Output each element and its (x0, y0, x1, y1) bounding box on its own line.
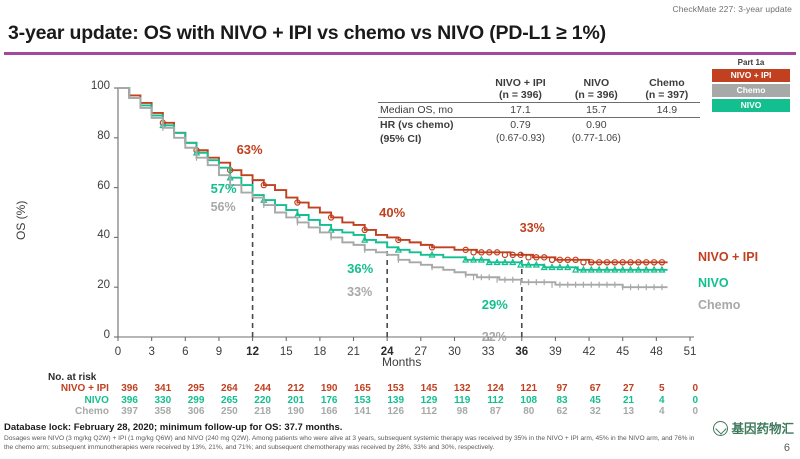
source-citation: CheckMate 227: 3-year update (672, 4, 792, 14)
risk-value-m0: 397 (113, 406, 146, 418)
end-label-nivo: NIVO (698, 276, 729, 290)
leaf-icon (713, 421, 728, 436)
risk-value-m48: 4 (645, 395, 678, 407)
annotation-chemo-m36: 22% (482, 330, 507, 344)
x-tick-12: 12 (241, 346, 265, 358)
y-tick-100: 100 (70, 80, 110, 92)
risk-value-m27: 145 (412, 383, 445, 395)
risk-row-label: NIVO + IPI (0, 383, 113, 395)
risk-value-m21: 141 (346, 406, 379, 418)
risk-value-m18: 190 (313, 383, 346, 395)
risk-value-m36: 108 (512, 395, 545, 407)
y-axis-label: OS (%) (14, 201, 28, 240)
title-divider (4, 52, 796, 55)
x-axis-label: Months (382, 355, 421, 369)
risk-value-m30: 119 (446, 395, 479, 407)
risk-value-m36: 80 (512, 406, 545, 418)
risk-value-m9: 264 (213, 383, 246, 395)
y-tick-80: 80 (70, 130, 110, 142)
risk-value-m6: 299 (179, 395, 212, 407)
no-at-risk-title: No. at risk (48, 372, 96, 383)
risk-value-m12: 244 (246, 383, 279, 395)
x-tick-18: 18 (308, 346, 332, 358)
page-title: 3-year update: OS with NIVO + IPI vs che… (8, 22, 606, 45)
risk-value-m42: 45 (579, 395, 612, 407)
annotation-chemo-m12: 56% (211, 200, 236, 214)
risk-value-m45: 21 (612, 395, 645, 407)
footnote-database-lock: Database lock: February 28, 2020; minimu… (4, 422, 342, 433)
legend-swatch-chemo: Chemo (711, 83, 791, 98)
risk-value-m45: 13 (612, 406, 645, 418)
page-number: 6 (784, 442, 790, 454)
risk-value-m9: 250 (213, 406, 246, 418)
risk-value-m42: 67 (579, 383, 612, 395)
risk-value-m45: 27 (612, 383, 645, 395)
x-tick-6: 6 (173, 346, 197, 358)
risk-value-m21: 165 (346, 383, 379, 395)
annotation-nivo-m12: 57% (211, 181, 237, 196)
risk-value-m39: 62 (545, 406, 578, 418)
annotation-nivo-ipi-m36: 33% (520, 221, 545, 235)
risk-value-m39: 97 (545, 383, 578, 395)
legend-title: Part 1a (711, 58, 791, 68)
y-tick-40: 40 (70, 229, 110, 241)
slide-root: CheckMate 227: 3-year update 3-year upda… (0, 0, 800, 459)
end-label-nivo-ipi: NIVO + IPI (698, 250, 758, 264)
risk-value-m0: 396 (113, 395, 146, 407)
risk-value-m51: 0 (678, 395, 712, 407)
curve-chemo (118, 88, 668, 287)
end-label-chemo: Chemo (698, 298, 740, 312)
risk-value-m33: 124 (479, 383, 512, 395)
x-tick-48: 48 (644, 346, 668, 358)
watermark-logo: 基因药物汇 (713, 418, 794, 437)
x-tick-39: 39 (543, 346, 567, 358)
risk-value-m3: 330 (146, 395, 179, 407)
x-tick-36: 36 (510, 346, 534, 358)
x-tick-33: 33 (476, 346, 500, 358)
risk-value-m42: 32 (579, 406, 612, 418)
y-tick-60: 60 (70, 180, 110, 192)
risk-value-m21: 153 (346, 395, 379, 407)
risk-value-m6: 295 (179, 383, 212, 395)
annotation-nivo-m36: 29% (482, 297, 508, 312)
risk-value-m3: 358 (146, 406, 179, 418)
annotation-nivo-m24: 36% (347, 261, 373, 276)
risk-value-m24: 139 (379, 395, 412, 407)
risk-value-m18: 166 (313, 406, 346, 418)
x-tick-21: 21 (342, 346, 366, 358)
risk-value-m6: 306 (179, 406, 212, 418)
risk-row-label: Chemo (0, 406, 113, 418)
risk-value-m30: 132 (446, 383, 479, 395)
km-curves-svg (0, 60, 720, 360)
risk-row-nivo: NIVO396330299265220201176153139129119112… (0, 395, 712, 407)
risk-value-m24: 153 (379, 383, 412, 395)
y-tick-0: 0 (70, 329, 110, 341)
risk-value-m12: 220 (246, 395, 279, 407)
legend-swatch-nivo-ipi: NIVO + IPI (711, 68, 791, 83)
x-tick-3: 3 (140, 346, 164, 358)
risk-value-m24: 126 (379, 406, 412, 418)
risk-value-m18: 176 (313, 395, 346, 407)
risk-value-m33: 87 (479, 406, 512, 418)
no-at-risk-table: NIVO + IPI396341295264244212190165153145… (0, 383, 712, 418)
risk-value-m33: 112 (479, 395, 512, 407)
y-tick-20: 20 (70, 279, 110, 291)
x-tick-9: 9 (207, 346, 231, 358)
risk-value-m39: 83 (545, 395, 578, 407)
x-tick-30: 30 (442, 346, 466, 358)
annotation-nivo-ipi-m24: 40% (379, 205, 405, 220)
risk-value-m12: 218 (246, 406, 279, 418)
risk-value-m48: 5 (645, 383, 678, 395)
x-tick-0: 0 (106, 346, 130, 358)
x-tick-51: 51 (678, 346, 702, 358)
annotation-nivo-ipi-m12: 63% (237, 142, 263, 157)
risk-value-m51: 0 (678, 406, 712, 418)
legend-swatch-nivo: NIVO (711, 98, 791, 113)
risk-value-m27: 112 (412, 406, 445, 418)
legend-part1a: Part 1a NIVO + IPI Chemo NIVO (710, 57, 792, 114)
x-tick-45: 45 (611, 346, 635, 358)
risk-value-m15: 212 (279, 383, 312, 395)
x-tick-15: 15 (274, 346, 298, 358)
risk-value-m15: 190 (279, 406, 312, 418)
km-plot: OS (%) 020406080100 03691215182124273033… (0, 60, 720, 360)
risk-value-m48: 4 (645, 406, 678, 418)
risk-value-m15: 201 (279, 395, 312, 407)
risk-value-m3: 341 (146, 383, 179, 395)
risk-value-m9: 265 (213, 395, 246, 407)
footnote-dosages: Dosages were NIVO (3 mg/kg Q2W) + IPI (1… (4, 434, 704, 452)
curve-nivo-ipi (118, 88, 668, 262)
x-tick-42: 42 (577, 346, 601, 358)
curve-nivo (118, 88, 668, 270)
risk-value-m30: 98 (446, 406, 479, 418)
annotation-chemo-m24: 33% (347, 285, 372, 299)
risk-row-label: NIVO (0, 395, 113, 407)
risk-value-m51: 0 (678, 383, 712, 395)
risk-value-m27: 129 (412, 395, 445, 407)
watermark-text: 基因药物汇 (731, 422, 794, 436)
risk-value-m0: 396 (113, 383, 146, 395)
risk-value-m36: 121 (512, 383, 545, 395)
risk-row-chemo: Chemo39735830625021819016614112611298878… (0, 406, 712, 418)
risk-row-nivo-ipi: NIVO + IPI396341295264244212190165153145… (0, 383, 712, 395)
